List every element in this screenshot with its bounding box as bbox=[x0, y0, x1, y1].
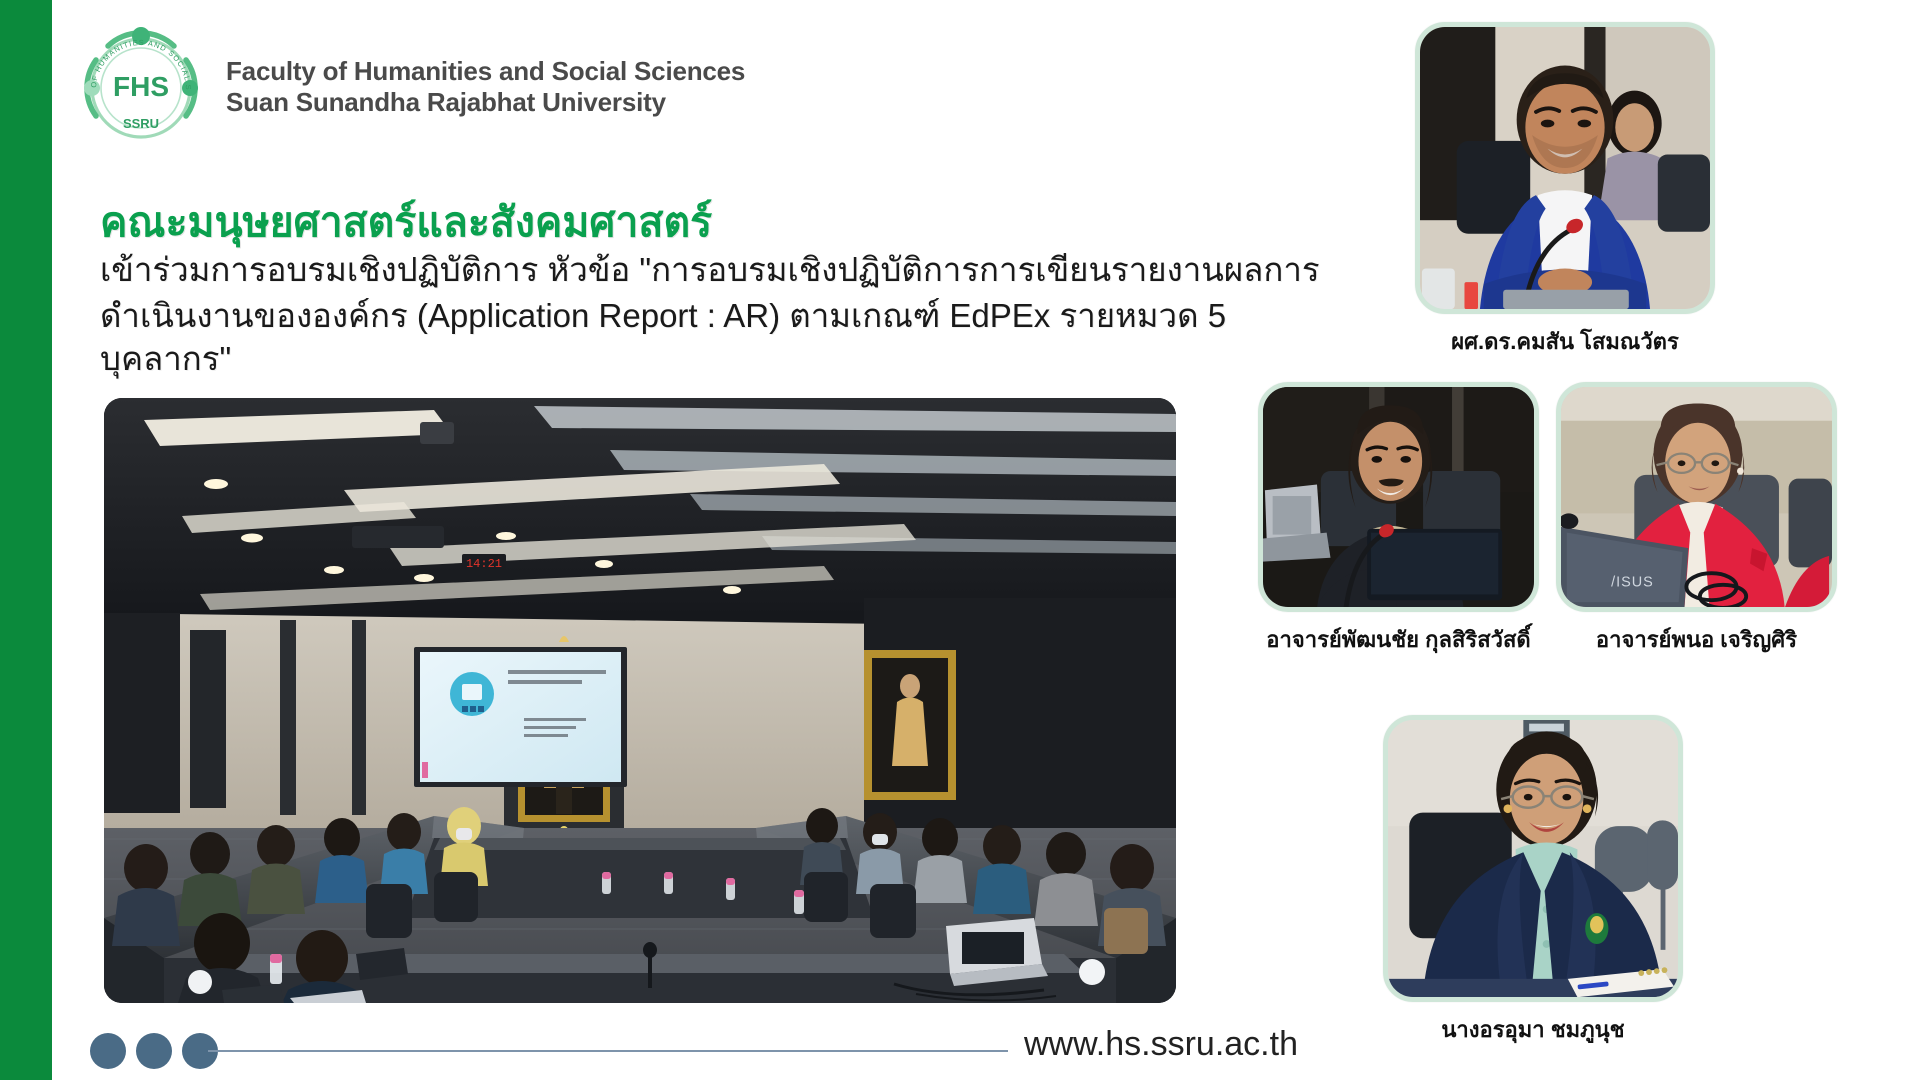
footer-divider-line bbox=[208, 1050, 1008, 1052]
headline-faculty: คณะมนุษยศาสตร์และสังคมศาสตร์ bbox=[100, 198, 1320, 246]
svg-text:14:21: 14:21 bbox=[466, 557, 502, 571]
left-green-rail bbox=[0, 0, 52, 1080]
headline-line3: ดำเนินงานขององค์กร (Application Report :… bbox=[100, 294, 1320, 381]
portrait-caption-1: ผศ.ดร.คมสัน โสมณวัตร bbox=[1415, 324, 1715, 359]
footer-dot-2 bbox=[136, 1033, 172, 1069]
footer-dot-1 bbox=[90, 1033, 126, 1069]
portrait-card-2: อาจารย์พัฒนชัย กุลสิริสวัสดิ์ bbox=[1258, 382, 1539, 657]
footer-bar: www.hs.ssru.ac.th bbox=[90, 1033, 1890, 1079]
fhs-logo: FACULTY OF HUMANITIES AND SOCIAL SCIENCE… bbox=[78, 24, 204, 150]
portrait-photo-3: /ISUS bbox=[1556, 382, 1837, 612]
portrait-photo-1 bbox=[1415, 22, 1715, 314]
university-name: Suan Sunandha Rajabhat University bbox=[226, 87, 745, 118]
headline-block: คณะมนุษยศาสตร์และสังคมศาสตร์ เข้าร่วมการ… bbox=[100, 198, 1320, 381]
portrait-photo-2 bbox=[1258, 382, 1539, 612]
portrait-caption-3: อาจารย์พนอ เจริญศิริ bbox=[1556, 622, 1837, 657]
footer-website-url[interactable]: www.hs.ssru.ac.th bbox=[1024, 1025, 1298, 1064]
meeting-room-photo: 14:21 bbox=[104, 398, 1176, 1003]
portrait-caption-2: อาจารย์พัฒนชัย กุลสิริสวัสดิ์ bbox=[1258, 622, 1539, 657]
portrait-card-3: /ISUS อาจารย์พนอ เจริญศิริ bbox=[1556, 382, 1837, 657]
brand-header: FACULTY OF HUMANITIES AND SOCIAL SCIENCE… bbox=[78, 24, 745, 150]
brand-text-block: Faculty of Humanities and Social Science… bbox=[226, 56, 745, 118]
portrait-photo-4 bbox=[1383, 715, 1683, 1002]
footer-dots bbox=[90, 1033, 218, 1069]
logo-bottom-text: SSRU bbox=[123, 116, 159, 131]
faculty-name: Faculty of Humanities and Social Science… bbox=[226, 56, 745, 87]
poster-canvas: FACULTY OF HUMANITIES AND SOCIAL SCIENCE… bbox=[0, 0, 1920, 1080]
headline-line2: เข้าร่วมการอบรมเชิงปฏิบัติการ หัวข้อ "กา… bbox=[100, 248, 1320, 292]
logo-center-text: FHS bbox=[113, 71, 169, 102]
svg-text:/ISUS: /ISUS bbox=[1611, 575, 1654, 591]
portrait-card-1: ผศ.ดร.คมสัน โสมณวัตร bbox=[1415, 22, 1715, 359]
portrait-card-4: นางอรอุมา ชมภูนุช bbox=[1383, 715, 1683, 1047]
